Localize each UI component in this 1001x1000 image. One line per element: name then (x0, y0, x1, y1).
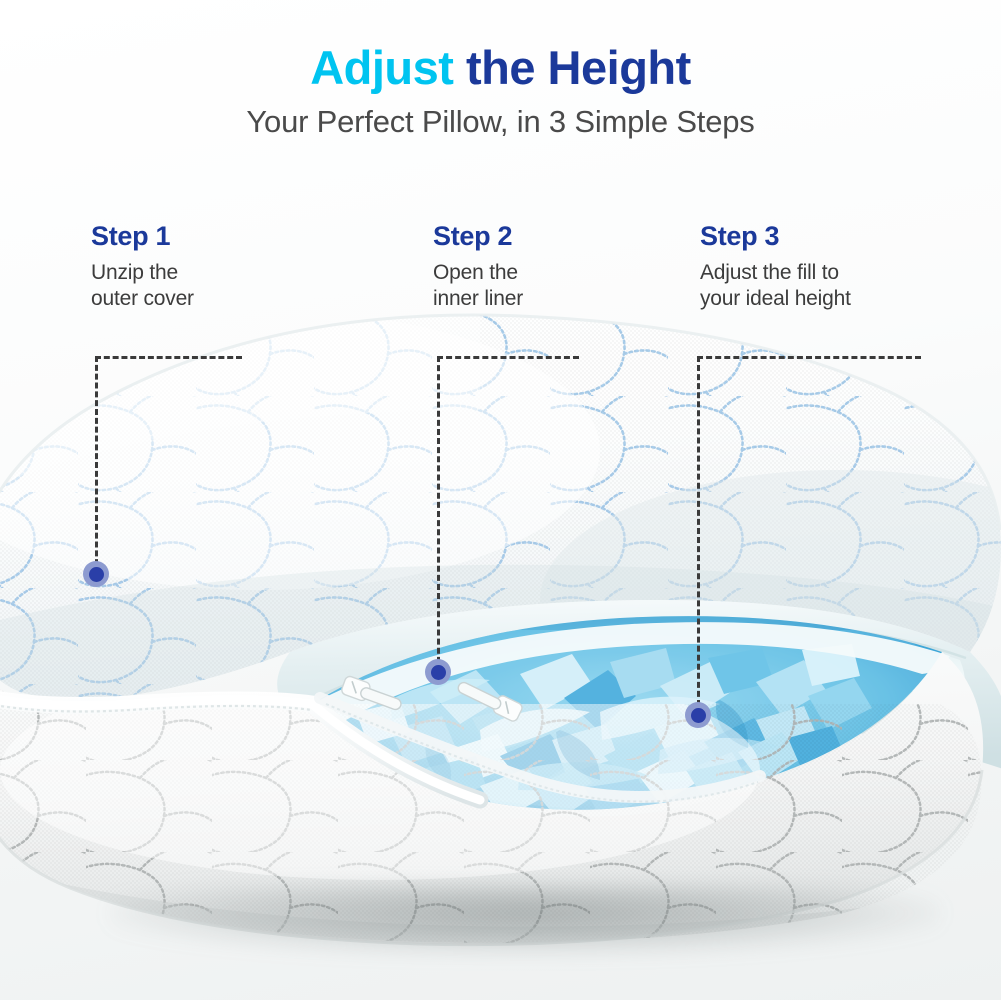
pillow-product-image (0, 300, 1001, 960)
header: Adjust the Height Your Perfect Pillow, i… (0, 0, 1001, 140)
page-title-main: the Height (453, 41, 690, 94)
step-block-3: Step 3 Adjust the fill to your ideal hei… (700, 222, 851, 313)
page-title: Adjust the Height (0, 0, 1001, 95)
page-subtitle: Your Perfect Pillow, in 3 Simple Steps (0, 95, 1001, 140)
step-2-description: Open the inner liner (433, 260, 523, 313)
infographic-canvas: Adjust the Height Your Perfect Pillow, i… (0, 0, 1001, 1000)
callout-dot-step-1 (83, 561, 109, 587)
callout-dot-step-2 (425, 659, 451, 685)
step-block-1: Step 1 Unzip the outer cover (91, 222, 194, 313)
pillow-illustration (0, 300, 1001, 960)
step-3-title: Step 3 (700, 222, 851, 252)
pillow-drop-shadow (110, 885, 940, 955)
page-title-accent: Adjust (310, 41, 453, 94)
step-2-title: Step 2 (433, 222, 523, 252)
callout-dot-step-3 (685, 702, 711, 728)
step-1-description: Unzip the outer cover (91, 260, 194, 313)
step-block-2: Step 2 Open the inner liner (433, 222, 523, 313)
step-3-description: Adjust the fill to your ideal height (700, 260, 851, 313)
step-1-title: Step 1 (91, 222, 194, 252)
